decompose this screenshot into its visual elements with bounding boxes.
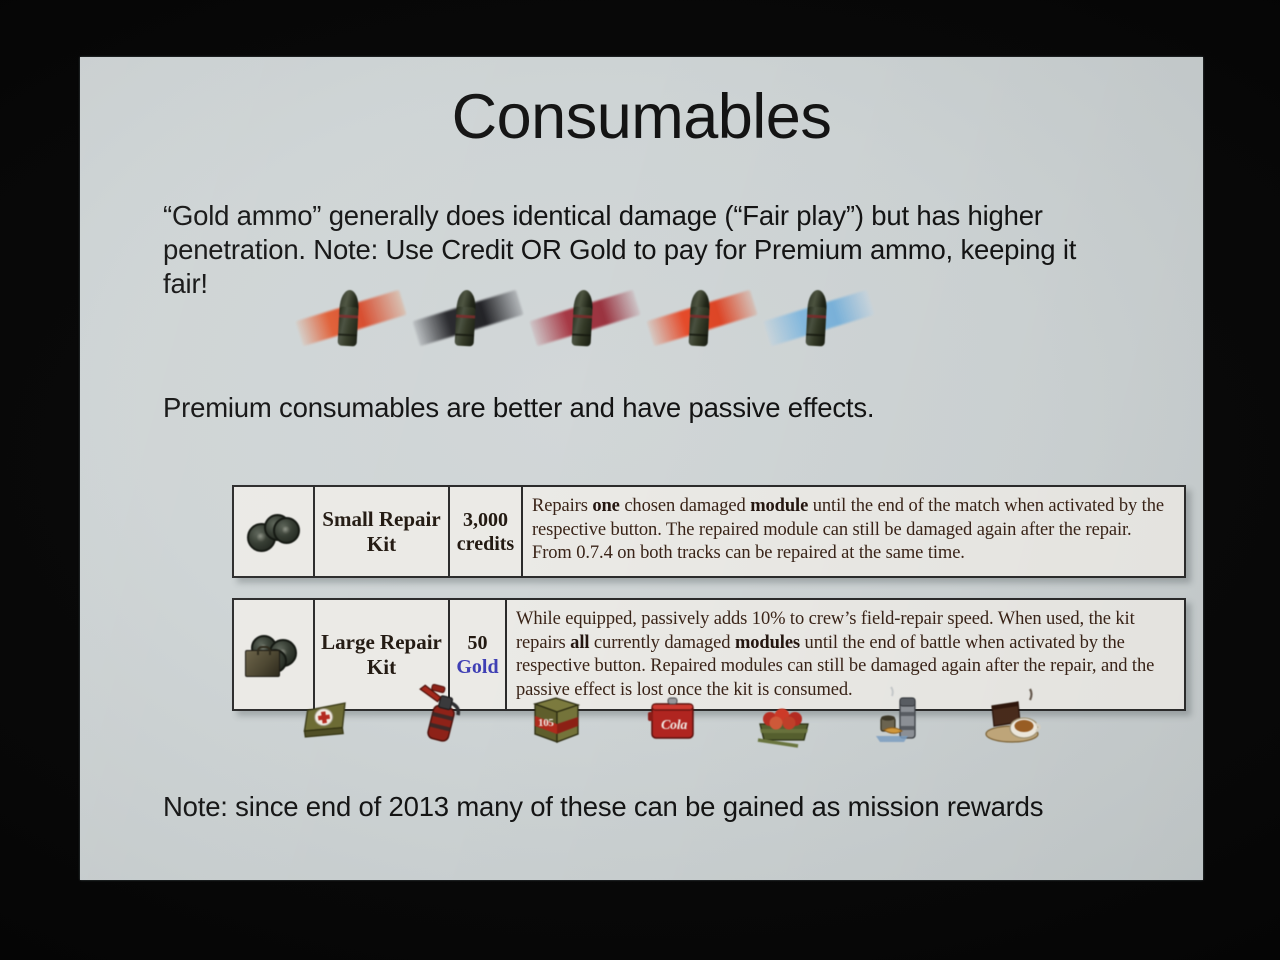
- cola-label: Cola: [661, 718, 687, 734]
- shell-he-crimson: [529, 285, 641, 351]
- thermos-rations-icon: [862, 682, 934, 748]
- premium-consumables-line: Premium consumables are better and have …: [163, 391, 874, 425]
- apple-crate-icon: [748, 688, 820, 754]
- repair-toolbox-glyph: [245, 629, 303, 681]
- shell-glyph: [338, 290, 360, 347]
- presentation-slide: Consumables “Gold ammo” generally does i…: [80, 57, 1203, 880]
- kit-price-unit: Gold: [456, 655, 498, 679]
- shell-heat-blue: [763, 285, 875, 351]
- shell-glyph: [572, 290, 594, 347]
- projector-room-background: Consumables “Gold ammo” generally does i…: [0, 0, 1280, 960]
- small-repair-kit-icon: [234, 487, 315, 576]
- footnote-text: Note: since end of 2013 many of these ca…: [163, 790, 1163, 824]
- kit-price-unit: credits: [457, 532, 514, 556]
- page-title: Consumables: [80, 81, 1203, 153]
- table-row: Small Repair Kit 3,000 credits Repairs o…: [232, 485, 1186, 578]
- kit-description: Repairs one chosen damaged module until …: [523, 487, 1184, 576]
- consumables-icon-strip: 105 Cola: [235, 682, 1035, 754]
- fire-extinguisher-icon: [405, 684, 477, 750]
- ammo-shell-row: [295, 285, 935, 351]
- shell-apcr-red: [646, 285, 758, 351]
- kit-price-value: 3,000: [463, 508, 508, 532]
- cola-cooler-icon: Cola: [635, 686, 707, 752]
- kit-name: Small Repair Kit: [315, 487, 450, 576]
- repair-wheels-glyph: [245, 506, 303, 558]
- kit-price-value: 50: [468, 631, 488, 655]
- ammo-crate-caliber-label: 105: [538, 717, 554, 729]
- ammo-crate-icon: 105: [518, 686, 590, 752]
- shell-glyph: [689, 290, 711, 347]
- shell-ap-black: [412, 285, 524, 351]
- shell-ap-orange: [295, 285, 407, 351]
- shell-glyph: [806, 290, 828, 347]
- cake-and-coffee-icon: [978, 684, 1050, 750]
- first-aid-kit-icon: [289, 686, 361, 752]
- shell-glyph: [455, 290, 477, 347]
- kit-price: 3,000 credits: [450, 487, 523, 576]
